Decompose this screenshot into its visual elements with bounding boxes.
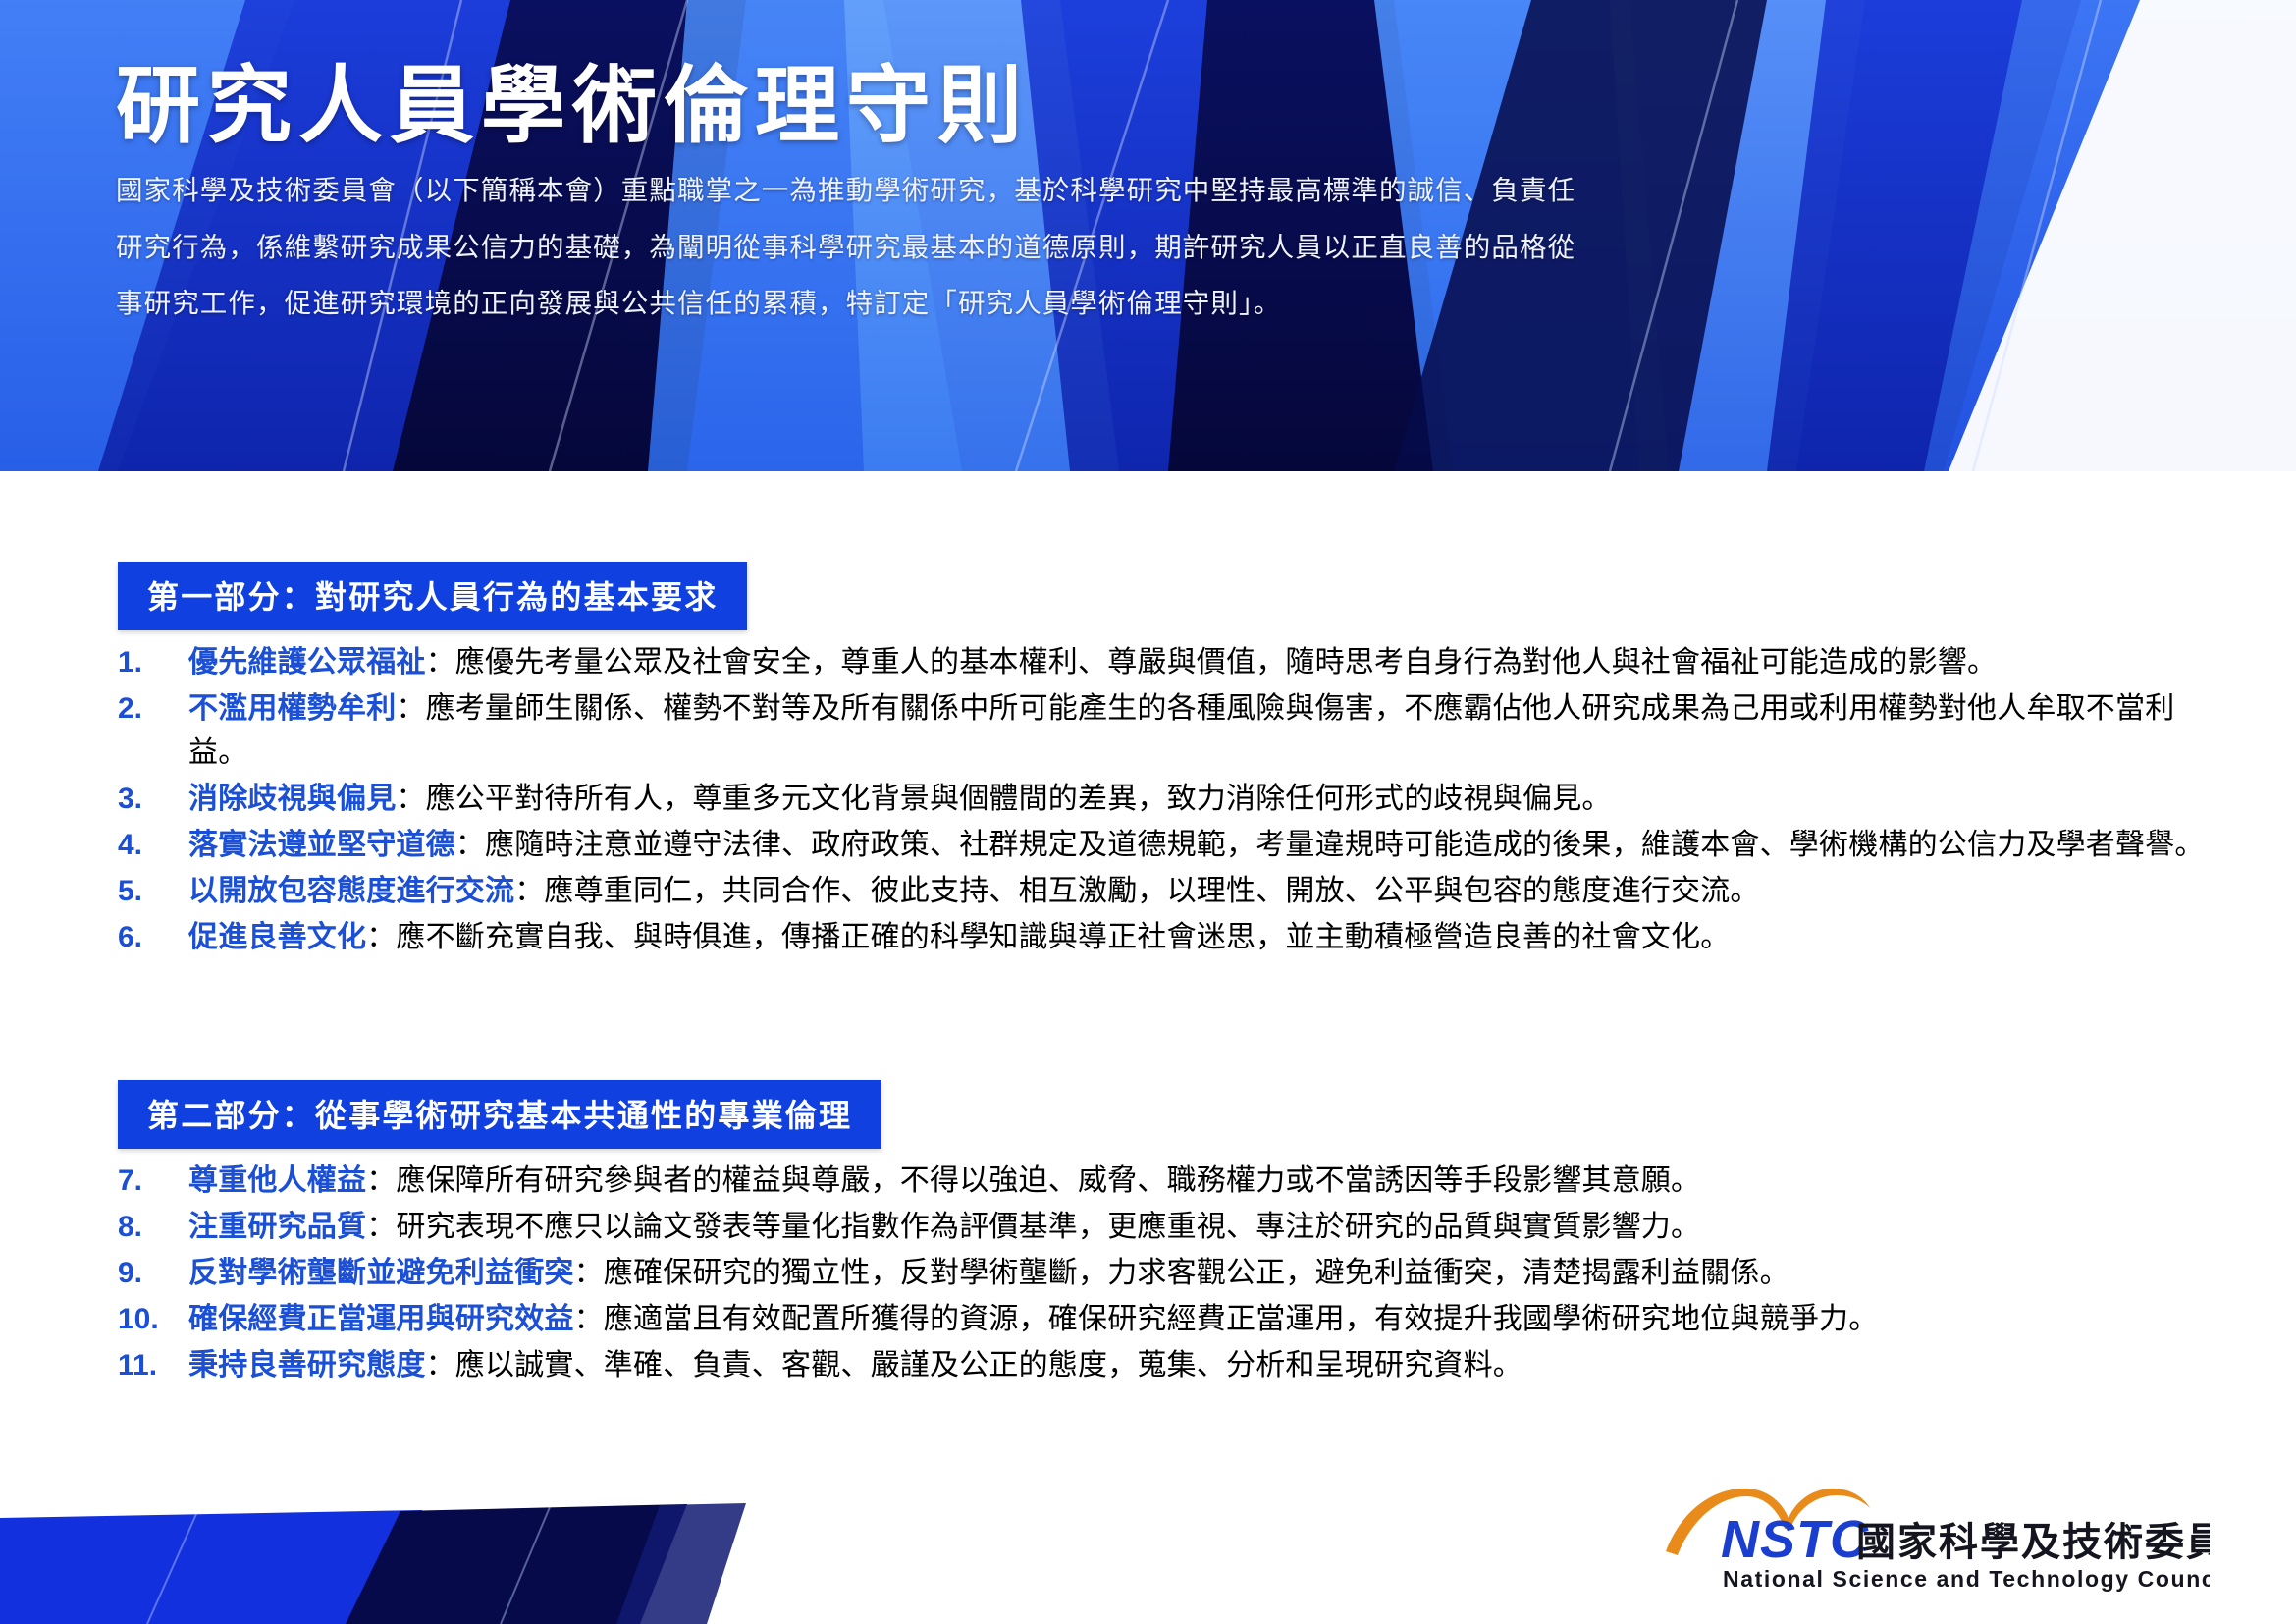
intro-line-2: 研究行為，係維繫研究成果公信力的基礎，為闡明從事科學研究最基本的道德原則，期許研…	[116, 234, 2040, 261]
list-item: 4.落實法遵並堅守道德：應隨時注意並遵守法律、政府政策、社群規定及道德規範，考量…	[118, 823, 2209, 867]
logo-name-zh: 國家科學及技術委員會	[1856, 1521, 2210, 1564]
rule-title: 優先維護公眾福祉	[188, 646, 426, 678]
rule-title: 尊重他人權益	[188, 1164, 366, 1197]
rule-title: 秉持良善研究態度	[188, 1349, 426, 1381]
rule-title: 消除歧視與偏見	[188, 783, 396, 815]
rule-list-part-one: 1.優先維護公眾福祉：應優先考量公眾及社會安全，尊重人的基本權利、尊嚴與價值，隨…	[118, 640, 2209, 959]
rule-body: ：應考量師生關係、權勢不對等及所有關係中所可能產生的各種風險與傷害，不應霸佔他人…	[188, 692, 2174, 769]
rule-body: ：研究表現不應只以論文發表等量化指數作為評價基準，更應重視、專注於研究的品質與實…	[366, 1211, 1700, 1243]
rule-body: ：應以誠實、準確、負責、客觀、嚴謹及公正的態度，蒐集、分析和呈現研究資料。	[426, 1349, 1522, 1381]
rule-title: 注重研究品質	[188, 1211, 366, 1243]
section-part-one: 第一部分：對研究人員行為的基本要求 1.優先維護公眾福祉：應優先考量公眾及社會安…	[118, 562, 2209, 961]
rule-title: 以開放包容態度進行交流	[188, 875, 514, 907]
main-content: 第一部分：對研究人員行為的基本要求 1.優先維護公眾福祉：應優先考量公眾及社會安…	[0, 471, 2296, 1453]
rule-body: ：應尊重同仁，共同合作、彼此支持、相互激勵，以理性、開放、公平與包容的態度進行交…	[514, 875, 1759, 907]
rule-body: ：應適當且有效配置所獲得的資源，確保研究經費正當運用，有效提升我國學術研究地位與…	[574, 1303, 1879, 1335]
rule-body: ：應確保研究的獨立性，反對學術壟斷，力求客觀公正，避免利益衝突，清楚揭露利益關係…	[574, 1257, 1789, 1289]
rule-number: 11.	[118, 1343, 179, 1387]
list-item: 8.注重研究品質：研究表現不應只以論文發表等量化指數作為評價基準，更應重視、專注…	[118, 1205, 2209, 1249]
list-item: 7.尊重他人權益：應保障所有研究參與者的權益與尊嚴，不得以強迫、威脅、職務權力或…	[118, 1159, 2209, 1203]
rule-body: ：應公平對待所有人，尊重多元文化背景與個體間的差異，致力消除任何形式的歧視與偏見…	[396, 783, 1611, 815]
rule-body: ：應隨時注意並遵守法律、政府政策、社群規定及道德規範，考量違規時可能造成的後果，…	[455, 829, 2205, 861]
rule-number: 4.	[118, 823, 179, 867]
banner-text-block: 研究人員學術倫理守則 國家科學及技術委員會（以下簡稱本會）重點職掌之一為推動學術…	[116, 59, 2040, 347]
intro-line-1: 國家科學及技術委員會（以下簡稱本會）重點職掌之一為推動學術研究，基於科學研究中堅…	[116, 177, 2040, 204]
nstc-logo: NSTC 國家科學及技術委員會 National Science and Tec…	[1660, 1477, 2210, 1597]
list-item: 3.消除歧視與偏見：應公平對待所有人，尊重多元文化背景與個體間的差異，致力消除任…	[118, 777, 2209, 821]
rule-number: 8.	[118, 1205, 179, 1249]
list-item: 2.不濫用權勢牟利：應考量師生關係、權勢不對等及所有關係中所可能產生的各種風險與…	[118, 686, 2209, 775]
rule-list-part-two: 7.尊重他人權益：應保障所有研究參與者的權益與尊嚴，不得以強迫、威脅、職務權力或…	[118, 1159, 2209, 1387]
rule-title: 確保經費正當運用與研究效益	[188, 1303, 574, 1335]
section-header-part-two: 第二部分：從事學術研究基本共通性的專業倫理	[118, 1080, 881, 1149]
rule-body: ：應不斷充實自我、與時俱進，傳播正確的科學知識與導正社會迷思，並主動積極營造良善…	[366, 921, 1730, 953]
rule-title: 促進良善文化	[188, 921, 366, 953]
rule-number: 1.	[118, 640, 179, 684]
rule-number: 3.	[118, 777, 179, 821]
list-item: 1.優先維護公眾福祉：應優先考量公眾及社會安全，尊重人的基本權利、尊嚴與價值，隨…	[118, 640, 2209, 684]
section-part-two: 第二部分：從事學術研究基本共通性的專業倫理 7.尊重他人權益：應保障所有研究參與…	[118, 1080, 2209, 1389]
list-item: 11.秉持良善研究態度：應以誠實、準確、負責、客觀、嚴謹及公正的態度，蒐集、分析…	[118, 1343, 2209, 1387]
rule-body: ：應保障所有研究參與者的權益與尊嚴，不得以強迫、威脅、職務權力或不當誘因等手段影…	[366, 1164, 1700, 1197]
rule-title: 不濫用權勢牟利	[188, 692, 396, 725]
section-header-part-one: 第一部分：對研究人員行為的基本要求	[118, 562, 747, 630]
intro-line-3: 事研究工作，促進研究環境的正向發展與公共信任的累積，特訂定「研究人員學術倫理守則…	[116, 290, 2040, 317]
rule-number: 7.	[118, 1159, 179, 1203]
rule-number: 6.	[118, 915, 179, 959]
list-item: 6.促進良善文化：應不斷充實自我、與時俱進，傳播正確的科學知識與導正社會迷思，並…	[118, 915, 2209, 959]
list-item: 5.以開放包容態度進行交流：應尊重同仁，共同合作、彼此支持、相互激勵，以理性、開…	[118, 869, 2209, 913]
rule-body: ：應優先考量公眾及社會安全，尊重人的基本權利、尊嚴與價值，隨時思考自身行為對他人…	[426, 646, 1998, 678]
list-item: 9.反對學術壟斷並避免利益衝突：應確保研究的獨立性，反對學術壟斷，力求客觀公正，…	[118, 1251, 2209, 1295]
nstc-logo-graphic: NSTC 國家科學及技術委員會 National Science and Tec…	[1660, 1477, 2210, 1597]
page-banner: 研究人員學術倫理守則 國家科學及技術委員會（以下簡稱本會）重點職掌之一為推動學術…	[0, 0, 2296, 471]
logo-acronym: NSTC	[1721, 1510, 1869, 1569]
logo-name-en: National Science and Technology Council	[1723, 1566, 2210, 1592]
rule-title: 反對學術壟斷並避免利益衝突	[188, 1257, 574, 1289]
list-item: 10.確保經費正當運用與研究效益：應適當且有效配置所獲得的資源，確保研究經費正當…	[118, 1297, 2209, 1341]
page-title: 研究人員學術倫理守則	[116, 59, 2040, 153]
rule-number: 10.	[118, 1297, 179, 1341]
rule-number: 5.	[118, 869, 179, 913]
rule-title: 落實法遵並堅守道德	[188, 829, 455, 861]
rule-number: 9.	[118, 1251, 179, 1295]
rule-number: 2.	[118, 686, 179, 731]
